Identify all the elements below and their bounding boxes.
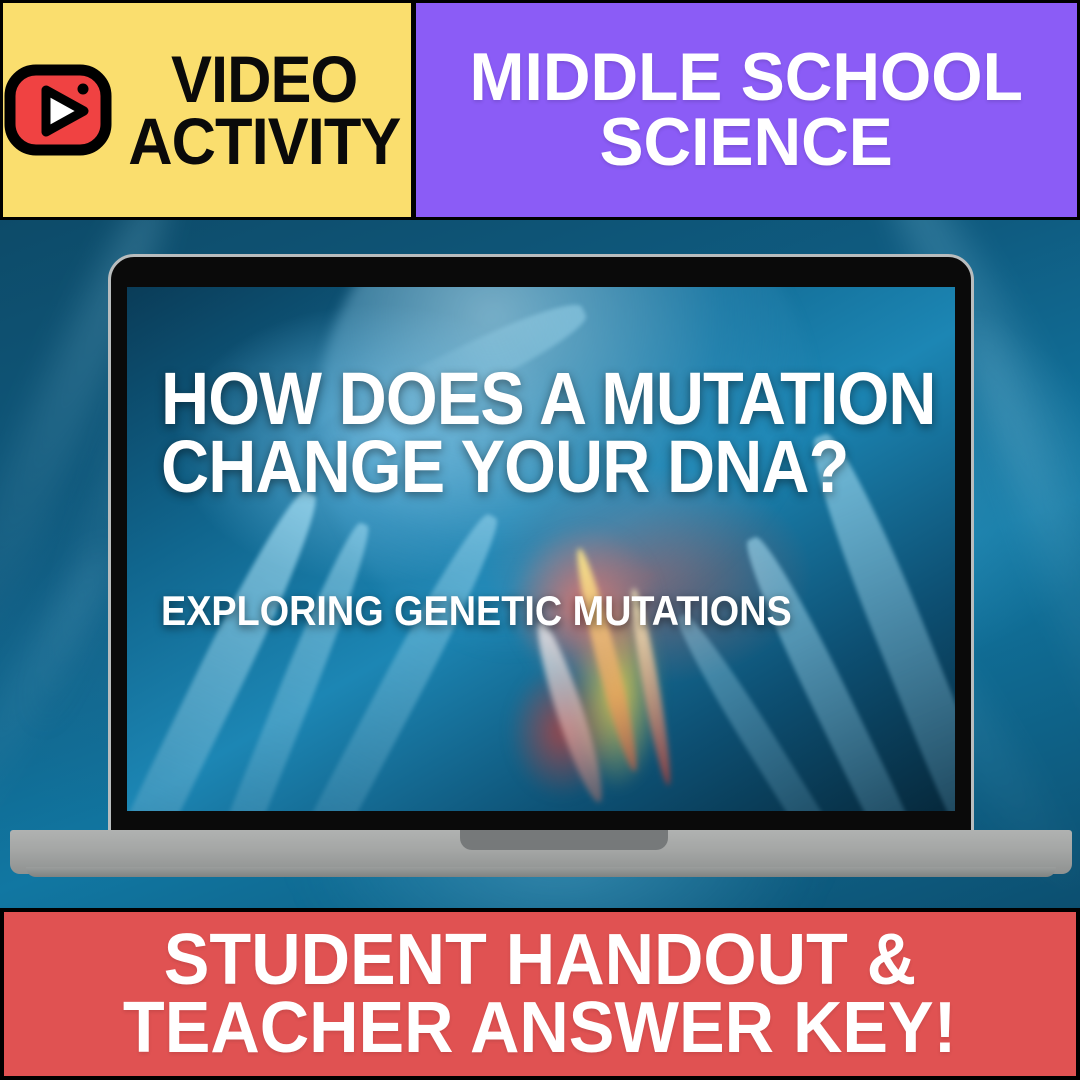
laptop-mockup: HOW DOES A MUTATION CHANGE YOUR DNA? EXP… [108, 254, 974, 854]
footer-line-1: STUDENT HANDOUT & [164, 926, 916, 994]
laptop-base-notch [460, 830, 668, 850]
footer-line-2: TEACHER ANSWER KEY! [123, 994, 956, 1062]
laptop-base-lip [26, 867, 1056, 877]
video-title-line-1: HOW DOES A MUTATION [161, 365, 845, 433]
video-activity-badge: VIDEO ACTIVITY [3, 3, 411, 217]
screen-text-block: HOW DOES A MUTATION CHANGE YOUR DNA? EXP… [127, 365, 955, 635]
footer-banner-inner: STUDENT HANDOUT & TEACHER ANSWER KEY! [4, 912, 1076, 1076]
video-activity-badge-content: VIDEO ACTIVITY [3, 48, 411, 172]
video-title-line-2: CHANGE YOUR DNA? [161, 433, 845, 501]
video-subtitle: EXPLORING GENETIC MUTATIONS [161, 587, 845, 635]
subject-line-1: MIDDLE SCHOOL [470, 45, 1023, 110]
header-bar: VIDEO ACTIVITY MIDDLE SCHOOL SCIENCE [0, 0, 1080, 220]
youtube-play-icon [4, 64, 112, 156]
laptop-screen: HOW DOES A MUTATION CHANGE YOUR DNA? EXP… [127, 287, 955, 811]
background-scene: HOW DOES A MUTATION CHANGE YOUR DNA? EXP… [0, 220, 1080, 908]
video-activity-label: VIDEO ACTIVITY [118, 48, 411, 172]
laptop-lid: HOW DOES A MUTATION CHANGE YOUR DNA? EXP… [108, 254, 974, 838]
subject-banner: MIDDLE SCHOOL SCIENCE [416, 3, 1077, 217]
poster-canvas: VIDEO ACTIVITY MIDDLE SCHOOL SCIENCE [0, 0, 1080, 1080]
video-activity-line-2: ACTIVITY [128, 110, 400, 172]
video-activity-line-1: VIDEO [171, 48, 357, 110]
footer-banner: STUDENT HANDOUT & TEACHER ANSWER KEY! [0, 908, 1080, 1080]
subject-line-2: SCIENCE [600, 110, 893, 175]
